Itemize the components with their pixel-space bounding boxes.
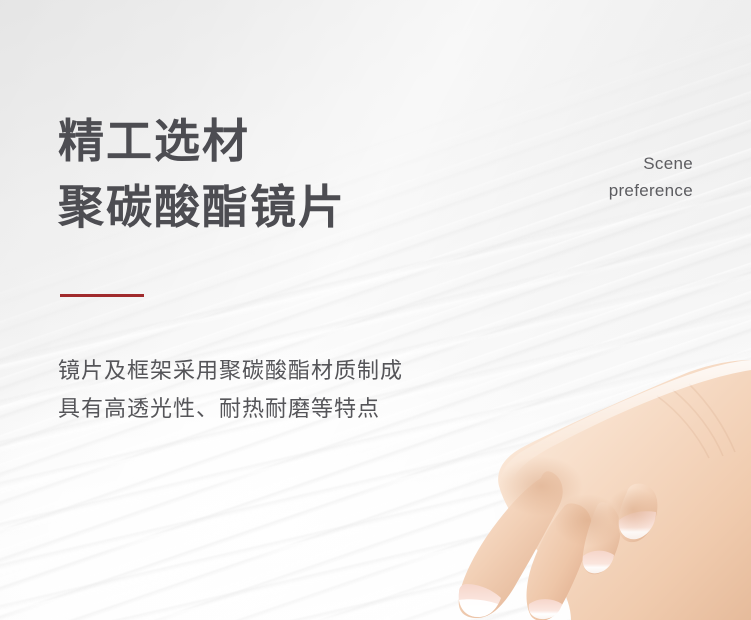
headline-line-2: 聚碳酸酯镜片	[58, 174, 346, 240]
page-title: 精工选材 聚碳酸酯镜片	[58, 108, 346, 240]
description-text: 镜片及框架采用聚碳酸酯材质制成 具有高透光性、耐热耐磨等特点	[58, 352, 403, 428]
description-line-1: 镜片及框架采用聚碳酸酯材质制成	[58, 352, 403, 390]
product-feature-banner: Scene preference 精工选材 聚碳酸酯镜片 镜片及框架采用聚碳酸酯…	[0, 0, 751, 620]
eyebrow-label: Scene preference	[473, 150, 693, 204]
divider-accent-rule	[60, 294, 144, 297]
headline-line-1: 精工选材	[58, 108, 346, 174]
description-line-2: 具有高透光性、耐热耐磨等特点	[58, 390, 403, 428]
eyebrow-line-1: Scene	[473, 150, 693, 177]
eyebrow-line-2: preference	[473, 177, 693, 204]
